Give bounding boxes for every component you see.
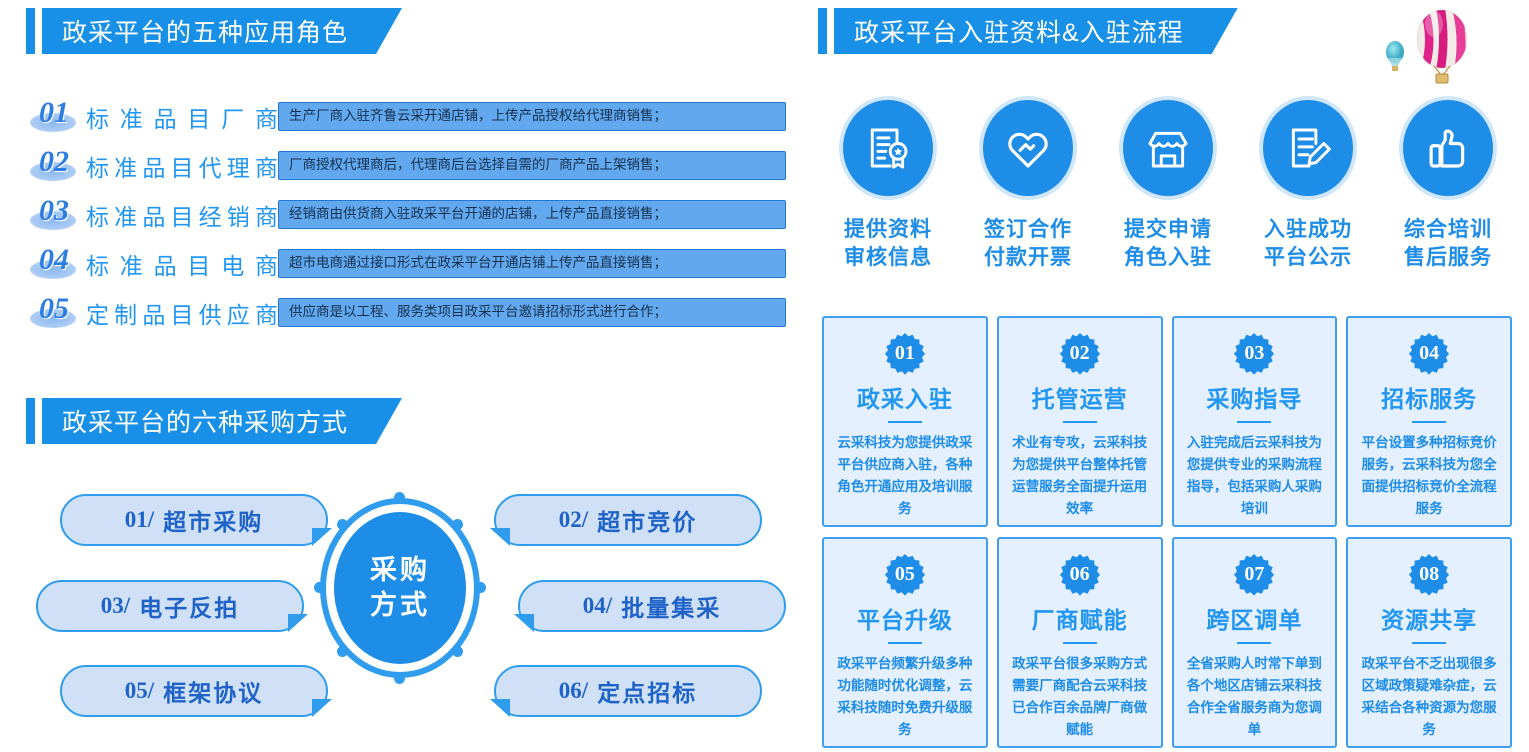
infographic-root: 政采平台的五种应用角色 01 标准品目厂商 生产厂商入驻齐鲁云采开通店铺，上传产… — [0, 0, 1529, 752]
card-title: 托管运营 — [1032, 380, 1128, 414]
method-label: 批量集采 — [621, 589, 721, 623]
method-label: 超市采购 — [163, 503, 263, 537]
service-card-01[interactable]: 01 政采入驻 云采科技为您提供政采平台供应商入驻，各种角色开通应用及培训服务 — [822, 316, 988, 527]
method-label: 超市竞价 — [597, 503, 697, 537]
heading-accent-bar — [818, 8, 827, 54]
badge-starburst-icon: 01 — [883, 332, 927, 376]
card-body: 政采平台频繁升级多种功能随时优化调整，云采科技随时免费升级服务 — [824, 653, 986, 740]
method-label: 框架协议 — [163, 674, 263, 708]
heading-methods-title: 政采平台的六种采购方式 — [62, 403, 348, 439]
flow-caption-1: 提供资料 审核信息 — [844, 216, 932, 271]
method-number: 03/ — [101, 593, 130, 619]
role-description: 生产厂商入驻齐鲁云采开通店铺，上传产品授权给代理商销售； — [278, 102, 786, 131]
wheel-dot-icon — [452, 519, 463, 530]
card-divider — [888, 421, 922, 423]
method-number: 02/ — [559, 507, 588, 533]
heading-accent-bar — [26, 8, 35, 54]
service-card-05[interactable]: 05 平台升级 政采平台频繁升级多种功能随时优化调整，云采科技随时免费升级服务 — [822, 537, 988, 748]
flow-caption-line-2: 审核信息 — [844, 244, 932, 272]
roles-list: 01 标准品目厂商 生产厂商入驻齐鲁云采开通店铺，上传产品授权给代理商销售； 0… — [26, 92, 786, 337]
service-cards-grid: 01 政采入驻 云采科技为您提供政采平台供应商入驻，各种角色开通应用及培训服务 … — [822, 316, 1512, 748]
method-number: 06/ — [559, 678, 588, 704]
pill-tail-icon — [514, 614, 534, 632]
role-number: 03 — [26, 195, 82, 235]
badge-starburst-icon: 08 — [1407, 553, 1451, 597]
role-number-text: 01 — [39, 96, 69, 130]
role-row: 01 标准品目厂商 生产厂商入驻齐鲁云采开通店铺，上传产品授权给代理商销售； — [26, 92, 786, 141]
card-divider — [1412, 642, 1446, 644]
flow-caption-line-1: 提交申请 — [1124, 216, 1212, 244]
service-card-02[interactable]: 02 托管运营 术业有专攻，云采科技为您提供平台整体托管运营服务全面提升运用效率 — [997, 316, 1163, 527]
badge-number: 06 — [1058, 552, 1102, 596]
card-title: 招标服务 — [1381, 380, 1477, 414]
flow-step-2[interactable]: 签订合作 付款开票 — [958, 96, 1098, 271]
badge-number: 08 — [1407, 552, 1451, 596]
role-number: 02 — [26, 146, 82, 186]
heading-methods: 政采平台的六种采购方式 — [26, 398, 402, 444]
badge-number: 05 — [883, 552, 927, 596]
pill-tail-icon — [312, 699, 332, 717]
flow-caption-line-2: 付款开票 — [984, 244, 1072, 272]
heading-accent-bar — [26, 398, 35, 444]
heading-roles-title: 政采平台的五种应用角色 — [62, 13, 348, 49]
role-number: 04 — [26, 244, 82, 284]
card-divider — [1412, 421, 1446, 423]
card-body: 术业有专攻，云采科技为您提供平台整体托管运营服务全面提升运用效率 — [999, 432, 1161, 519]
badge-starburst-icon: 05 — [883, 553, 927, 597]
role-row: 02 标准品目代理商 厂商授权代理商后，代理商后台选择自需的厂商产品上架销售； — [26, 141, 786, 190]
role-name: 标准品目经销商 — [86, 198, 278, 232]
heading-roles-body: 政采平台的五种应用角色 — [42, 8, 402, 54]
flow-caption-line-2: 售后服务 — [1404, 244, 1492, 272]
wheel-dot-icon — [452, 646, 463, 657]
flow-caption-4: 入驻成功 平台公示 — [1264, 216, 1352, 271]
flow-caption-2: 签订合作 付款开票 — [984, 216, 1072, 271]
card-body: 全省采购人时常下单到各个地区店铺云采科技合作全省服务商为您调单 — [1174, 653, 1336, 740]
role-name: 标准品目代理商 — [86, 149, 278, 183]
thumbs-up-icon — [1399, 96, 1497, 200]
role-number-text: 02 — [39, 145, 69, 179]
service-card-07[interactable]: 07 跨区调单 全省采购人时常下单到各个地区店铺云采科技合作全省服务商为您调单 — [1172, 537, 1338, 748]
flow-step-4[interactable]: 入驻成功 平台公示 — [1238, 96, 1378, 271]
flow-step-5[interactable]: 综合培训 售后服务 — [1378, 96, 1518, 271]
role-number-text: 03 — [39, 194, 69, 228]
method-pill-01[interactable]: 01/ 超市采购 — [60, 494, 328, 546]
card-body: 云采科技为您提供政采平台供应商入驻，各种角色开通应用及培训服务 — [824, 432, 986, 519]
card-divider — [1063, 642, 1097, 644]
method-pill-05[interactable]: 05/ 框架协议 — [60, 665, 328, 717]
wheel-dot-icon — [394, 673, 405, 684]
role-row: 05 定制品目供应商 供应商是以工程、服务类项目政采平台邀请招标形式进行合作； — [26, 288, 786, 337]
card-body: 平台设置多种招标竞价服务，云采科技为您全面提供招标竞价全流程服务 — [1348, 432, 1510, 519]
method-pill-03[interactable]: 03/ 电子反拍 — [36, 580, 304, 632]
role-number-text: 05 — [39, 292, 69, 326]
flow-caption-line-1: 签订合作 — [984, 216, 1072, 244]
method-number: 04/ — [583, 593, 612, 619]
flow-step-1[interactable]: 提供资料 审核信息 — [818, 96, 958, 271]
role-row: 03 标准品目经销商 经销商由供货商入驻政采平台开通的店铺，上传产品直接销售； — [26, 190, 786, 239]
role-description: 超市电商通过接口形式在政采平台开通店铺上传产品直接销售； — [278, 249, 786, 278]
badge-number: 04 — [1407, 331, 1451, 375]
role-name: 标准品目电商 — [86, 247, 278, 281]
wheel-dot-icon — [337, 519, 348, 530]
heading-onboarding-body: 政采平台入驻资料&入驻流程 — [834, 8, 1238, 54]
method-number: 05/ — [125, 678, 154, 704]
card-divider — [1237, 421, 1271, 423]
pill-tail-icon — [490, 528, 510, 546]
service-card-06[interactable]: 06 厂商赋能 政采平台很多采购方式需要厂商配合云采科技已合作百余品牌厂商做赋能 — [997, 537, 1163, 748]
hub-line-1: 采购 — [370, 553, 430, 588]
card-body: 政采平台很多采购方式需要厂商配合云采科技已合作百余品牌厂商做赋能 — [999, 653, 1161, 740]
badge-starburst-icon: 06 — [1058, 553, 1102, 597]
card-title: 采购指导 — [1206, 380, 1302, 414]
badge-number: 07 — [1232, 552, 1276, 596]
badge-starburst-icon: 03 — [1232, 332, 1276, 376]
card-title: 资源共享 — [1381, 601, 1477, 635]
storefront-icon — [1119, 96, 1217, 200]
heading-onboarding-title: 政采平台入驻资料&入驻流程 — [854, 13, 1184, 49]
hot-air-balloon-icon — [1380, 4, 1500, 86]
flow-caption-line-1: 综合培训 — [1404, 216, 1492, 244]
flow-caption-line-2: 角色入驻 — [1124, 244, 1212, 272]
heading-methods-body: 政采平台的六种采购方式 — [42, 398, 402, 444]
certificate-icon — [839, 96, 937, 200]
handshake-heart-icon — [979, 96, 1077, 200]
document-edit-icon — [1259, 96, 1357, 200]
card-title: 平台升级 — [857, 601, 953, 635]
wheel-hub: 采购 方式 — [320, 498, 480, 678]
heading-onboarding: 政采平台入驻资料&入驻流程 — [818, 8, 1238, 54]
procurement-wheel: 01/ 超市采购 02/ 超市竞价 03/ 电子反拍 04/ 批量集采 05/ … — [0, 470, 800, 750]
wheel-core: 采购 方式 — [334, 512, 466, 664]
flow-caption-line-2: 平台公示 — [1264, 244, 1352, 272]
wheel-dot-icon — [394, 492, 405, 503]
role-number: 05 — [26, 293, 82, 333]
wheel-dot-icon — [314, 582, 325, 593]
card-title: 政采入驻 — [857, 380, 953, 414]
method-label: 电子反拍 — [139, 589, 239, 623]
flow-step-3[interactable]: 提交申请 角色入驻 — [1098, 96, 1238, 271]
badge-number: 03 — [1232, 331, 1276, 375]
flow-caption-5: 综合培训 售后服务 — [1404, 216, 1492, 271]
flow-caption-line-1: 提供资料 — [844, 216, 932, 244]
method-pill-02[interactable]: 02/ 超市竞价 — [494, 494, 762, 546]
card-body: 入驻完成后云采科技为您提供专业的采购流程指导，包括采购人采购培训 — [1174, 432, 1336, 519]
wheel-dot-icon — [337, 646, 348, 657]
role-description: 供应商是以工程、服务类项目政采平台邀请招标形式进行合作； — [278, 298, 786, 327]
method-pill-06[interactable]: 06/ 定点招标 — [494, 665, 762, 717]
method-number: 01/ — [125, 507, 154, 533]
role-name: 标准品目厂商 — [86, 100, 278, 134]
flow-caption-line-1: 入驻成功 — [1264, 216, 1352, 244]
pill-tail-icon — [490, 699, 510, 717]
pill-tail-icon — [288, 614, 308, 632]
badge-starburst-icon: 07 — [1232, 553, 1276, 597]
onboarding-flow: 提供资料 审核信息 签订合作 付款开票 — [818, 96, 1518, 271]
card-title: 跨区调单 — [1206, 601, 1302, 635]
heading-roles: 政采平台的五种应用角色 — [26, 8, 402, 54]
badge-starburst-icon: 04 — [1407, 332, 1451, 376]
card-divider — [888, 642, 922, 644]
role-name: 定制品目供应商 — [86, 296, 278, 330]
badge-number: 01 — [883, 331, 927, 375]
service-card-03[interactable]: 03 采购指导 入驻完成后云采科技为您提供专业的采购流程指导，包括采购人采购培训 — [1172, 316, 1338, 527]
wheel-dot-icon — [475, 582, 486, 593]
badge-number: 02 — [1058, 331, 1102, 375]
badge-starburst-icon: 02 — [1058, 332, 1102, 376]
card-divider — [1063, 421, 1097, 423]
service-card-08[interactable]: 08 资源共享 政采平台不乏出现很多区域政策疑难杂症，云采结合各种资源为您服务 — [1346, 537, 1512, 748]
role-description: 厂商授权代理商后，代理商后台选择自需的厂商产品上架销售； — [278, 151, 786, 180]
card-divider — [1237, 642, 1271, 644]
role-number: 01 — [26, 97, 82, 137]
method-pill-04[interactable]: 04/ 批量集采 — [518, 580, 786, 632]
hub-line-2: 方式 — [370, 588, 430, 623]
flow-caption-3: 提交申请 角色入驻 — [1124, 216, 1212, 271]
role-number-text: 04 — [39, 243, 69, 277]
method-label: 定点招标 — [597, 674, 697, 708]
card-title: 厂商赋能 — [1032, 601, 1128, 635]
role-description: 经销商由供货商入驻政采平台开通的店铺，上传产品直接销售； — [278, 200, 786, 229]
card-body: 政采平台不乏出现很多区域政策疑难杂症，云采结合各种资源为您服务 — [1348, 653, 1510, 740]
service-card-04[interactable]: 04 招标服务 平台设置多种招标竞价服务，云采科技为您全面提供招标竞价全流程服务 — [1346, 316, 1512, 527]
role-row: 04 标准品目电商 超市电商通过接口形式在政采平台开通店铺上传产品直接销售； — [26, 239, 786, 288]
